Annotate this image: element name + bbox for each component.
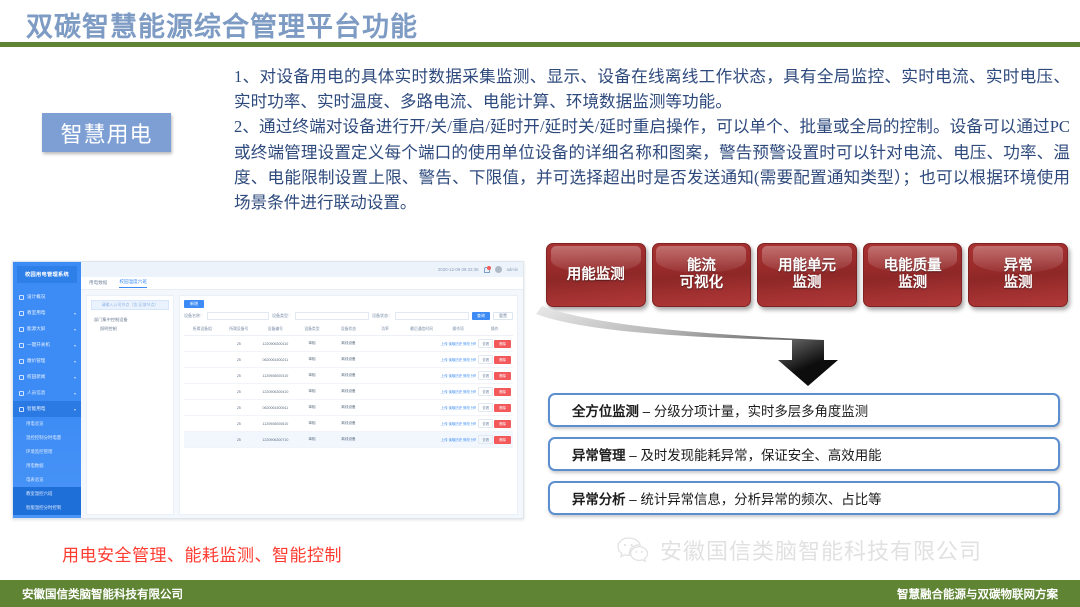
table-cell-action-links[interactable]: 上传 读取历史 修改 分时间设置	[440, 416, 477, 432]
curved-down-arrow-icon	[520, 300, 860, 392]
app-sidebar-item-12[interactable]: 电表总览	[13, 473, 81, 487]
body-text-block: 1、对设备用电的具体实时数据采集监测、显示、设备在线离线工作状态，具有全局监控、…	[234, 64, 1070, 215]
red-tag-row: 用能监测 能流可视化 用能单元监测 电能质量监测 异常监测	[546, 243, 1068, 307]
app-sidebar-item-label: 智能温控分时控制	[26, 505, 76, 511]
red-tag-2-line1: 用能单元	[778, 258, 836, 274]
chevron-down-icon: ▾	[74, 311, 76, 316]
table-cell-所属设备组	[184, 336, 221, 352]
chevron-down-icon: ▾	[74, 359, 76, 364]
tree-node-0[interactable]: 部门集中控制设备	[91, 315, 169, 324]
table-cell-最后通信时间	[403, 336, 440, 352]
view-button[interactable]: 查看	[478, 387, 493, 396]
table-cell-功率	[367, 384, 404, 400]
app-datetime: 2020-12-09 09:33:36	[438, 267, 479, 272]
new-button[interactable]: 新增	[184, 300, 204, 308]
table-cell-所属设备组	[184, 368, 221, 384]
table-cell-所属设备号: 25	[221, 336, 258, 352]
table-cell-action-links[interactable]: 上传 读取历史 修改 分时间设置	[440, 384, 477, 400]
table-row[interactable]: 251220906300710单相离线设备上传 读取历史 修改 分时间设置查看 …	[184, 432, 513, 448]
app-sidebar-item-10[interactable]: 环境监控管理	[13, 445, 81, 459]
table-cell-功率	[367, 336, 404, 352]
table-cell-设备编号: 0620061500511	[257, 400, 294, 416]
table-cell-设备状态: 离线设备	[330, 416, 367, 432]
table-cell-action-links[interactable]: 上传 读取历史 修改 分时间设置	[440, 432, 477, 448]
app-content: 请输入公司节点（含 区域节点） 部门集中控制设备 照明控制 新增 设备名称： 设…	[81, 290, 523, 519]
table-row[interactable]: 250620061500211单相离线设备上传 读取历史 修改 分时间设置查看 …	[184, 352, 513, 368]
watermark: 安徽国信类脑智能科技有限公司	[616, 534, 982, 566]
red-tag-2[interactable]: 用能单元监测	[757, 243, 857, 307]
filter-type-select[interactable]	[295, 312, 369, 320]
table-header-row: 所属设备组所属设备号设备编号设备类型设备状态功率最后通信时间操作项操作	[184, 324, 513, 336]
app-sidebar-item-1[interactable]: 教室用电▾	[13, 305, 81, 321]
table-cell-action-links[interactable]: 上传 读取历史 修改 分时间设置	[440, 352, 477, 368]
app-topbar: 2020-12-09 09:33:36 admin	[81, 262, 523, 277]
table-cell-设备编号: 1120908000610	[257, 416, 294, 432]
nav-square-icon	[19, 359, 24, 364]
table-cell-设备状态: 离线设备	[330, 352, 367, 368]
title-divider	[0, 42, 1080, 47]
table-cell-所属设备组	[184, 400, 221, 416]
chevron-down-icon: ▾	[74, 327, 76, 332]
red-tag-2-line2: 监测	[792, 275, 821, 291]
app-sidebar-item-3[interactable]: 一键开关机▾	[13, 337, 81, 353]
bullet-row-0[interactable]: 全方位监测 – 分级分项计量，实时多层多角度监测	[548, 393, 1060, 427]
app-sidebar-item-label: 用电总览	[26, 421, 76, 427]
table-cell-所属设备组	[184, 416, 221, 432]
table-cell-设备类型: 单相	[294, 400, 331, 416]
delete-button[interactable]: 删除	[494, 420, 511, 428]
table-cell-所属设备号: 25	[221, 400, 258, 416]
app-brand: 校园用电管理系统	[17, 266, 77, 283]
bullet-row-1[interactable]: 异常管理 – 及时发现能耗异常，保证安全、高效用能	[548, 437, 1060, 471]
table-cell-actions: 查看 删除	[476, 352, 513, 368]
app-sidebar-item-5[interactable]: 校园新闻▾	[13, 369, 81, 385]
table-cell-最后通信时间	[403, 416, 440, 432]
slide-footer: 安徽国信类脑智能科技有限公司 智慧融合能源与双碳物联网方案	[0, 580, 1080, 607]
table-cell-最后通信时间	[403, 384, 440, 400]
table-cell-action-links[interactable]: 上传 读取历史 修改 分时间设置	[440, 368, 477, 384]
table-cell-设备编号: 1220906300110	[257, 336, 294, 352]
chevron-down-icon: ▾	[74, 375, 76, 380]
tab-1[interactable]: 校园温度六班	[119, 279, 147, 288]
table-row[interactable]: 250620061500511单相离线设备上传 读取历史 修改 分时间设置查看 …	[184, 400, 513, 416]
table-cell-功率	[367, 368, 404, 384]
table-cell-action-links[interactable]: 上传 读取历史 修改 分时间设置	[440, 400, 477, 416]
table-cell-设备编号: 1120908000310	[257, 368, 294, 384]
table-cell-最后通信时间	[403, 400, 440, 416]
app-sidebar-item-label: 环境监控管理	[26, 449, 76, 455]
section-chip: 智慧用电	[42, 113, 171, 152]
app-sidebar-item-label: 电表总览	[26, 477, 76, 483]
delete-button[interactable]: 删除	[494, 372, 511, 380]
table-cell-设备类型: 单相	[294, 368, 331, 384]
red-tag-4-line1: 异常	[1004, 258, 1033, 274]
filter-status-label: 设备状态：	[372, 313, 392, 319]
red-tag-4-line2: 监测	[1004, 275, 1033, 291]
app-sidebar-item-11[interactable]: 用电数据	[13, 459, 81, 473]
table-cell-所属设备号: 25	[221, 352, 258, 368]
app-table-panel: 新增 设备名称： 设备类型： 设备状态： 查询 重置 所属设备组所属设备号设备编…	[179, 295, 518, 515]
bell-badge	[487, 266, 491, 270]
watermark-text: 安徽国信类脑智能科技有限公司	[660, 534, 982, 566]
device-table: 所属设备组所属设备号设备编号设备类型设备状态功率最后通信时间操作项操作 2512…	[184, 324, 513, 448]
red-tag-0-line1: 用能监测	[567, 267, 625, 283]
table-cell-设备状态: 离线设备	[330, 432, 367, 448]
app-sidebar-item-0[interactable]: 设计概况	[13, 289, 81, 305]
table-col-header-3: 设备类型	[294, 324, 331, 336]
table-cell-设备类型: 单相	[294, 352, 331, 368]
tab-0[interactable]: 用电数据	[89, 280, 107, 286]
app-sidebar-item-9[interactable]: 温控控制分时电量	[13, 431, 81, 445]
red-tag-1-line2: 可视化	[680, 275, 724, 291]
app-sidebar-item-label: 一键开关机	[27, 342, 71, 348]
table-row[interactable]: 251120908000610单相离线设备上传 读取历史 修改 分时间设置查看 …	[184, 416, 513, 432]
nav-square-icon	[19, 343, 24, 348]
bullet-row-0-rest: – 分级分项计量，实时多层多角度监测	[639, 404, 868, 419]
table-row[interactable]: 251220906300410单相离线设备上传 读取历史 修改 分时间设置查看 …	[184, 384, 513, 400]
table-cell-所属设备号: 25	[221, 368, 258, 384]
app-sidebar: 校园用电管理系统 设计概况教室用电▾能源大屏▾一键开关机▾缴价管理▾校园新闻▾人…	[13, 262, 81, 519]
delete-button[interactable]: 删除	[494, 388, 511, 396]
bullet-row-0-bold: 全方位监测	[572, 404, 639, 419]
body-paragraph-1: 1、对设备用电的具体实时数据采集监测、显示、设备在线离线工作状态，具有全局监控、…	[234, 64, 1070, 114]
table-cell-actions: 查看 删除	[476, 432, 513, 448]
app-sidebar-item-7[interactable]: 智能用电▾	[13, 401, 81, 417]
section-chip-label: 智慧用电	[60, 117, 152, 149]
app-sidebar-item-label: 教室用电	[27, 310, 71, 316]
view-button[interactable]: 查看	[478, 371, 493, 380]
app-sidebar-item-14[interactable]: 智能温控分时控制	[13, 501, 81, 515]
app-sidebar-item-label: 用电数据	[26, 463, 76, 469]
chevron-down-icon: ▾	[74, 407, 76, 412]
filter-type-label: 设备类型：	[272, 313, 292, 319]
delete-button[interactable]: 删除	[494, 436, 511, 444]
red-tag-0[interactable]: 用能监测	[546, 243, 646, 307]
table-cell-actions: 查看 删除	[476, 400, 513, 416]
bullet-row-2-rest: – 统计异常信息，分析异常的频次、占比等	[626, 492, 882, 507]
table-cell-设备状态: 离线设备	[330, 368, 367, 384]
table-col-header-1: 所属设备号	[221, 324, 258, 336]
table-cell-actions: 查看 删除	[476, 384, 513, 400]
table-cell-actions: 查看 删除	[476, 368, 513, 384]
table-cell-设备编号: 0620061500211	[257, 352, 294, 368]
app-username: admin	[507, 267, 518, 272]
app-sidebar-item-label: 智能用电	[27, 406, 71, 412]
table-cell-功率	[367, 352, 404, 368]
bullet-row-2-bold: 异常分析	[572, 492, 626, 507]
red-caption: 用电安全管理、能耗监测、智能控制	[62, 541, 342, 566]
table-cell-设备状态: 离线设备	[330, 336, 367, 352]
view-button[interactable]: 查看	[478, 435, 493, 444]
app-sidebar-nav: 设计概况教室用电▾能源大屏▾一键开关机▾缴价管理▾校园新闻▾人员信息▾智能用电▾…	[13, 289, 81, 515]
table-cell-设备编号: 1220906300710	[257, 432, 294, 448]
app-sidebar-item-label: 教室温控六班	[26, 491, 76, 497]
nav-square-icon	[19, 327, 24, 332]
filter-status-select[interactable]	[395, 312, 469, 320]
table-cell-设备状态: 离线设备	[330, 400, 367, 416]
reset-button[interactable]: 重置	[493, 312, 513, 320]
table-col-header-0: 所属设备组	[184, 324, 221, 336]
nav-square-icon	[19, 407, 24, 412]
table-cell-actions: 查看 删除	[476, 416, 513, 432]
table-cell-所属设备组	[184, 432, 221, 448]
nav-square-icon	[19, 375, 24, 380]
table-cell-最后通信时间	[403, 368, 440, 384]
table-cell-所属设备号: 25	[221, 384, 258, 400]
table-body: 251220906300110单相离线设备上传 读取历史 修改 分时间设置查看 …	[184, 336, 513, 448]
filter-name-label: 设备名称：	[184, 313, 204, 319]
app-tree-panel: 请输入公司节点（含 区域节点） 部门集中控制设备 照明控制	[86, 295, 174, 515]
table-cell-最后通信时间	[403, 432, 440, 448]
app-sidebar-item-label: 温控控制分时电量	[26, 435, 76, 441]
table-cell-设备类型: 单相	[294, 384, 331, 400]
nav-square-icon	[19, 295, 24, 300]
view-button[interactable]: 查看	[478, 339, 493, 348]
view-button[interactable]: 查看	[478, 419, 493, 428]
bell-icon[interactable]	[484, 267, 490, 273]
table-col-header-6: 最后通信时间	[403, 324, 440, 336]
bullet-row-1-bold: 异常管理	[572, 448, 626, 463]
wechat-icon	[616, 536, 650, 564]
bullet-row-1-rest: – 及时发现能耗异常，保证安全、高效用能	[626, 448, 882, 463]
table-col-header-2: 设备编号	[257, 324, 294, 336]
red-tag-3-line1: 电能质量	[884, 258, 942, 274]
table-cell-设备编号: 1220906300410	[257, 384, 294, 400]
table-cell-设备类型: 单相	[294, 336, 331, 352]
bullet-row-2[interactable]: 异常分析 – 统计异常信息，分析异常的频次、占比等	[548, 481, 1060, 515]
table-col-header-8: 操作	[476, 324, 513, 336]
red-tag-1-line1: 能流	[687, 258, 716, 274]
table-cell-设备类型: 单相	[294, 416, 331, 432]
nav-square-icon	[19, 311, 24, 316]
page-title: 双碳智慧能源综合管理平台功能	[26, 5, 418, 44]
red-tag-3-line2: 监测	[898, 275, 927, 291]
delete-button[interactable]: 删除	[494, 404, 511, 412]
table-col-header-4: 设备状态	[330, 324, 367, 336]
tree-search-input[interactable]: 请输入公司节点（含 区域节点）	[91, 300, 169, 310]
red-tag-3[interactable]: 电能质量监测	[863, 243, 963, 307]
app-sidebar-item-label: 能源大屏	[27, 326, 71, 332]
app-sidebar-item-13[interactable]: 教室温控六班	[13, 487, 81, 501]
nav-square-icon	[19, 391, 24, 396]
app-screenshot: 校园用电管理系统 设计概况教室用电▾能源大屏▾一键开关机▾缴价管理▾校园新闻▾人…	[12, 261, 524, 519]
app-sidebar-item-2[interactable]: 能源大屏▾	[13, 321, 81, 337]
table-cell-功率	[367, 416, 404, 432]
table-cell-action-links[interactable]: 上传 读取历史 修改 分时间设置	[440, 336, 477, 352]
table-cell-所属设备号: 25	[221, 416, 258, 432]
avatar[interactable]	[495, 266, 502, 273]
chevron-down-icon: ▾	[74, 391, 76, 396]
table-cell-actions: 查看 删除	[476, 336, 513, 352]
search-button[interactable]: 查询	[472, 312, 490, 320]
app-sidebar-item-label: 缴价管理	[27, 358, 71, 364]
filter-name-input[interactable]	[207, 312, 269, 320]
footer-right: 智慧融合能源与双碳物联网方案	[897, 586, 1058, 602]
table-cell-设备状态: 离线设备	[330, 384, 367, 400]
table-cell-所属设备组	[184, 384, 221, 400]
tree-node-1[interactable]: 照明控制	[91, 324, 169, 333]
app-sidebar-item-label: 设计概况	[27, 294, 76, 300]
body-paragraph-2: 2、通过终端对设备进行开/关/重启/延时开/延时关/延时重启操作，可以单个、批量…	[234, 114, 1070, 215]
chevron-down-icon: ▾	[74, 343, 76, 348]
table-cell-所属设备号: 25	[221, 432, 258, 448]
red-tag-4[interactable]: 异常监测	[968, 243, 1068, 307]
app-sidebar-item-4[interactable]: 缴价管理▾	[13, 353, 81, 369]
table-row[interactable]: 251220906300110单相离线设备上传 读取历史 修改 分时间设置查看 …	[184, 336, 513, 352]
view-button[interactable]: 查看	[478, 403, 493, 412]
table-cell-功率	[367, 432, 404, 448]
table-col-header-7: 操作项	[440, 324, 477, 336]
app-tabs: 用电数据 校园温度六班	[81, 277, 523, 290]
table-row[interactable]: 251120908000310单相离线设备上传 读取历史 修改 分时间设置查看 …	[184, 368, 513, 384]
slide-root: 双碳智慧能源综合管理平台功能 智慧用电 1、对设备用电的具体实时数据采集监测、显…	[0, 0, 1080, 607]
table-filters: 设备名称： 设备类型： 设备状态： 查询 重置	[184, 312, 513, 320]
table-cell-所属设备组	[184, 352, 221, 368]
app-sidebar-item-8[interactable]: 用电总览	[13, 417, 81, 431]
table-cell-最后通信时间	[403, 352, 440, 368]
footer-left: 安徽国信类脑智能科技有限公司	[22, 586, 183, 602]
slide-title-bar: 双碳智慧能源综合管理平台功能	[0, 0, 1080, 44]
app-main: 2020-12-09 09:33:36 admin 用电数据 校园温度六班 请输…	[81, 262, 523, 518]
delete-button[interactable]: 删除	[494, 356, 511, 364]
app-sidebar-item-label: 人员信息	[27, 390, 71, 396]
view-button[interactable]: 查看	[478, 355, 493, 364]
table-col-header-5: 功率	[367, 324, 404, 336]
app-sidebar-item-6[interactable]: 人员信息▾	[13, 385, 81, 401]
red-tag-1[interactable]: 能流可视化	[652, 243, 752, 307]
app-sidebar-item-label: 校园新闻	[27, 374, 71, 380]
table-cell-功率	[367, 400, 404, 416]
delete-button[interactable]: 删除	[494, 340, 511, 348]
table-cell-设备类型: 单相	[294, 432, 331, 448]
